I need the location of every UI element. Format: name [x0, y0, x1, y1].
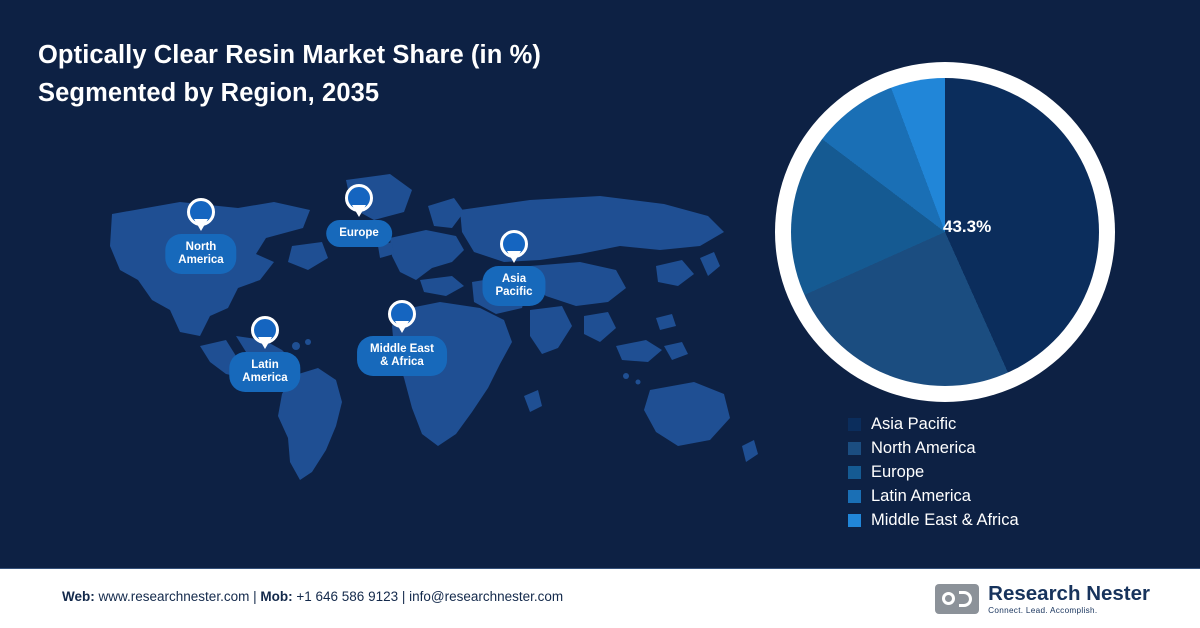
- legend-item-middle-east-africa: Middle East & Africa: [848, 508, 1019, 532]
- logo-tagline: Connect. Lead. Accomplish.: [988, 605, 1150, 616]
- pin-head-icon: [251, 316, 279, 344]
- title-line-2: Segmented by Region, 2035: [38, 74, 738, 112]
- legend-swatch-europe: [848, 466, 861, 479]
- legend-swatch-north-america: [848, 442, 861, 455]
- title-line-1: Optically Clear Resin Market Share (in %…: [38, 41, 541, 69]
- legend-item-latin-america: Latin America: [848, 484, 1019, 508]
- legend-label-asia-pacific: Asia Pacific: [871, 415, 956, 433]
- legend-swatch-latin-america: [848, 490, 861, 503]
- pin-head-icon: [187, 198, 215, 226]
- page-title: Optically Clear Resin Market Share (in %…: [38, 36, 738, 112]
- footer-separator-2: |: [402, 589, 406, 604]
- footer-web-label: Web:: [62, 589, 95, 604]
- logo-name: Research Nester: [988, 582, 1150, 605]
- legend-label-north-america: North America: [871, 439, 976, 457]
- legend-label-europe: Europe: [871, 463, 924, 481]
- poster-canvas: Optically Clear Resin Market Share (in %…: [0, 0, 1200, 628]
- footer-web-value[interactable]: www.researchnester.com: [99, 589, 250, 604]
- map-pin-label-middle-east-africa: Middle East& Africa: [357, 336, 447, 376]
- logo-mark-icon: [935, 584, 979, 614]
- pin-head-icon: [500, 230, 528, 258]
- logo-name-research: Research: [988, 582, 1080, 605]
- world-map: NorthAmerica Europe AsiaPacific LatinAme…: [60, 150, 760, 500]
- footer-mob-label: Mob:: [260, 589, 292, 604]
- map-pin-label-latin-america: LatinAmerica: [229, 352, 300, 392]
- legend-item-north-america: North America: [848, 436, 1019, 460]
- map-pin-label-north-america: NorthAmerica: [165, 234, 236, 274]
- legend-item-asia-pacific: Asia Pacific: [848, 412, 1019, 436]
- legend-swatch-asia-pacific: [848, 418, 861, 431]
- legend-label-latin-america: Latin America: [871, 487, 971, 505]
- legend-swatch-middle-east-africa: [848, 514, 861, 527]
- footer-email[interactable]: info@researchnester.com: [409, 589, 563, 604]
- footer-bar: Web: www.researchnester.com | Mob: +1 64…: [0, 569, 1200, 628]
- pie-chart: 43.3%: [775, 62, 1115, 402]
- legend-label-middle-east-africa: Middle East & Africa: [871, 511, 1019, 529]
- pin-head-icon: [388, 300, 416, 328]
- footer-separator-1: |: [253, 589, 257, 604]
- footer-mob-value: +1 646 586 9123: [296, 589, 398, 604]
- research-nester-logo: Research Nester Connect. Lead. Accomplis…: [935, 579, 1150, 619]
- chart-legend: Asia Pacific North America Europe Latin …: [848, 412, 1019, 532]
- logo-wordmark: Research Nester Connect. Lead. Accomplis…: [988, 582, 1150, 616]
- footer-contact-text: Web: www.researchnester.com | Mob: +1 64…: [62, 589, 563, 604]
- logo-name-nester: Nester: [1086, 582, 1150, 605]
- legend-item-europe: Europe: [848, 460, 1019, 484]
- map-pin-label-europe: Europe: [326, 220, 392, 247]
- pie-slice-label-asia-pacific: 43.3%: [943, 217, 991, 237]
- pin-head-icon: [345, 184, 373, 212]
- map-pin-label-asia-pacific: AsiaPacific: [482, 266, 545, 306]
